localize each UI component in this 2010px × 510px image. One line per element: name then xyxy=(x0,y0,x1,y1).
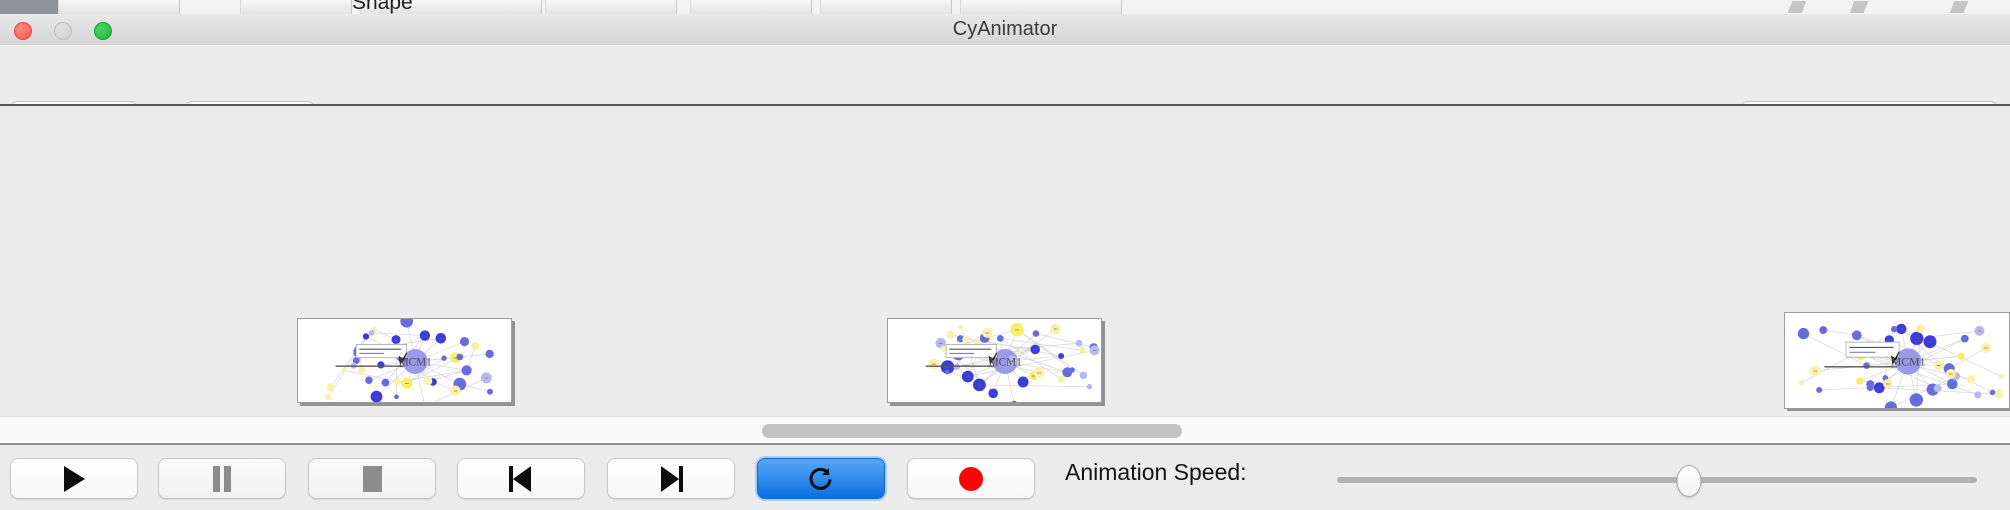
network-graph: ••••••••••••••••••••••••••••••••••••••••… xyxy=(888,319,1102,403)
network-graph: ••••••••••••••••••••••••••••••••••••••••… xyxy=(1785,313,2010,409)
loop-button[interactable] xyxy=(757,458,885,499)
background-window-dark-segment xyxy=(0,0,58,14)
animation-speed-slider-thumb[interactable] xyxy=(1677,465,1702,497)
stop-icon xyxy=(363,466,382,492)
svg-text:•••: ••• xyxy=(1950,382,1955,386)
svg-text:•••: ••• xyxy=(1914,398,1919,402)
svg-text:•••: ••• xyxy=(1813,369,1818,373)
background-window-segment xyxy=(960,0,1122,14)
skip-to-end-button[interactable] xyxy=(607,458,735,499)
network-graph: ••••••••••••••••••••••••••••••••••••••••… xyxy=(298,319,512,403)
skip-forward-icon xyxy=(658,466,684,492)
playback-controlbar: Animation Speed: xyxy=(0,445,2010,510)
timeline-frame-thumbnail[interactable]: ••••••••••••••••••••••••••••••••••••••••… xyxy=(297,318,512,403)
animation-speed-slider[interactable] xyxy=(1337,477,1977,483)
window-title: CyAnimator xyxy=(0,14,2010,45)
background-window-segment xyxy=(545,0,677,14)
svg-text:•••: ••• xyxy=(1915,337,1920,341)
background-window-segment xyxy=(240,0,352,14)
skip-to-start-button[interactable] xyxy=(457,458,585,499)
svg-text:•••: ••• xyxy=(1984,346,1989,350)
timeline-panel[interactable]: ••••••••••••••••••••••••••••••••••••••••… xyxy=(0,106,2010,411)
titlebar: CyAnimator xyxy=(0,14,2010,46)
svg-text:•••: ••• xyxy=(1887,338,1892,342)
background-window-segment xyxy=(690,0,812,14)
play-button[interactable] xyxy=(10,458,138,499)
svg-text:•••: ••• xyxy=(1928,340,1933,344)
loop-icon xyxy=(807,465,835,493)
svg-text:•••: ••• xyxy=(1978,329,1983,333)
skip-back-icon xyxy=(508,466,534,492)
svg-text:•••: ••• xyxy=(1802,332,1807,336)
svg-text:•••: ••• xyxy=(1937,364,1942,368)
record-button[interactable] xyxy=(907,458,1035,499)
background-window-strip: Shape xyxy=(0,0,2010,15)
svg-text:•••: ••• xyxy=(1889,406,1894,409)
background-window-tick xyxy=(1788,1,1807,13)
animation-speed-label: Animation Speed: xyxy=(1065,459,1247,486)
svg-text:•••: ••• xyxy=(1899,327,1904,331)
background-window-label: Shape xyxy=(352,0,413,15)
cyanimator-window: Shape CyAnimator Clear All Frames •• xyxy=(0,0,2010,510)
toolbar: Clear All Frames xyxy=(0,45,2010,106)
timeline-scrollbar-thumb[interactable] xyxy=(762,424,1182,438)
background-window-segment xyxy=(820,0,952,14)
svg-text:•••: ••• xyxy=(1886,382,1891,386)
network-hub-label: MCM1 xyxy=(399,356,432,368)
timeline-frame-thumbnail[interactable]: ••••••••••••••••••••••••••••••••••••••••… xyxy=(887,318,1102,403)
background-window-segment xyxy=(58,0,180,14)
timeline-frame-thumbnail[interactable]: ••••••••••••••••••••••••••••••••••••••••… xyxy=(1784,312,2010,409)
svg-text:•••: ••• xyxy=(1949,372,1954,376)
network-hub-label: MCM1 xyxy=(989,356,1022,368)
record-icon xyxy=(959,467,983,491)
pause-button xyxy=(158,458,286,499)
stop-button xyxy=(308,458,436,499)
timeline-scrollbar-track[interactable] xyxy=(0,416,2010,443)
pause-icon xyxy=(212,466,232,492)
svg-text:•••: ••• xyxy=(1855,334,1860,338)
background-window-tick xyxy=(1950,1,1969,13)
background-window-tick xyxy=(1850,1,1869,13)
network-hub-label: MCM1 xyxy=(1891,355,1926,369)
svg-text:•••: ••• xyxy=(1877,386,1882,390)
play-icon xyxy=(64,466,85,492)
